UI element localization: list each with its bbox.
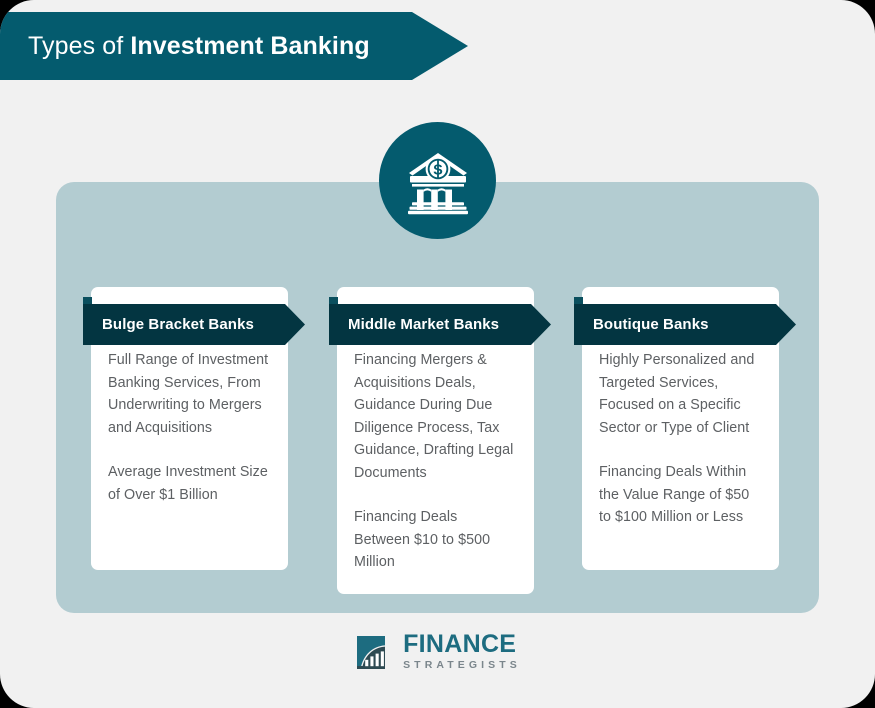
bank-building-dollar-icon: S [379,122,496,239]
page-title-bold: Investment Banking [130,32,369,60]
column-paragraph: Highly Personalized and Targeted Service… [599,349,762,439]
column-header-label: Middle Market Banks [329,316,499,333]
page-title-light: Types of [28,32,130,60]
column-body-text: Highly Personalized and Targeted Service… [599,349,762,529]
card-surface: Types of Investment Banking [0,0,875,708]
column-card: Boutique Banks Highly Personalized and T… [582,287,779,570]
finance-strategists-logo: FINANCE STRATEGISTS [0,632,875,671]
column-header-label: Bulge Bracket Banks [83,316,254,333]
infographic-root: Types of Investment Banking [0,0,875,708]
column-card: Middle Market Banks Financing Mergers & … [337,287,534,594]
column-paragraph: Financing Deals Within the Value Range o… [599,461,762,529]
columns-container: Bulge Bracket Banks Full Range of Invest… [56,182,819,613]
column-body-text: Full Range of Investment Banking Service… [108,349,271,506]
column-header-label: Boutique Banks [574,316,709,333]
column-paragraph: Average Investment Size of Over $1 Billi… [108,461,271,506]
column-header-banner: Bulge Bracket Banks [83,304,305,345]
header-banner: Types of Investment Banking [0,12,468,80]
finance-strategists-bar-chart-arc-logo [354,632,394,670]
column-header-banner: Boutique Banks [574,304,796,345]
column-middle-market-banks: Middle Market Banks Financing Mergers & … [337,287,534,594]
column-bulge-bracket-banks: Bulge Bracket Banks Full Range of Invest… [91,287,288,570]
column-boutique-banks: Boutique Banks Highly Personalized and T… [582,287,779,570]
column-paragraph: Full Range of Investment Banking Service… [108,349,271,439]
logo-subtitle: STRATEGISTS [403,660,521,671]
column-header-banner: Middle Market Banks [329,304,551,345]
logo-name: FINANCE [403,632,521,657]
logo-wordmark: FINANCE STRATEGISTS [403,632,521,671]
column-card: Bulge Bracket Banks Full Range of Invest… [91,287,288,570]
column-paragraph: Financing Mergers & Acquisitions Deals, … [354,349,517,484]
page-title: Types of Investment Banking [0,31,370,61]
column-body-text: Financing Mergers & Acquisitions Deals, … [354,349,517,574]
column-paragraph: Financing Deals Between $10 to $500 Mill… [354,506,517,574]
